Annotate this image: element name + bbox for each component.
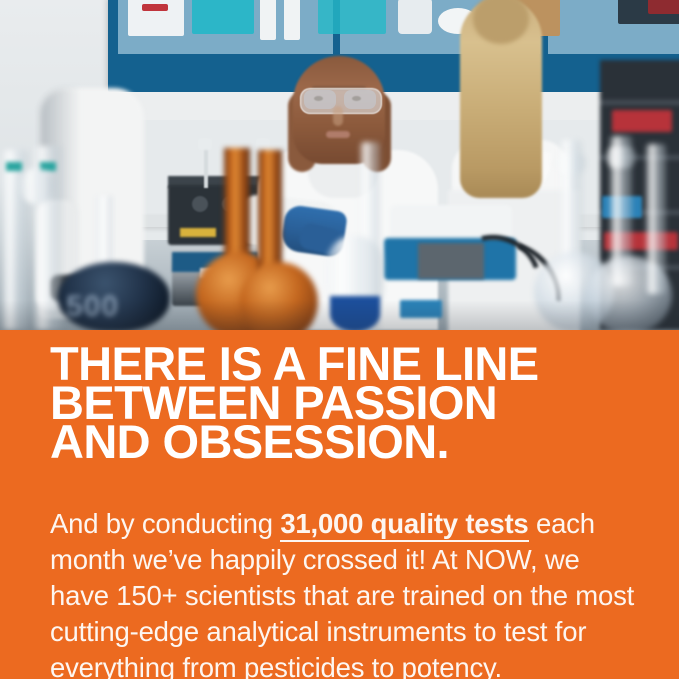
orange-text-panel: THERE IS A FINE LINE BETWEEN PASSION AND…	[0, 330, 679, 679]
support-rod-clamp-2	[256, 138, 270, 150]
shelf-item-red	[612, 110, 672, 132]
instrument-label-yellow	[180, 228, 216, 237]
glass-stopper-right	[556, 152, 586, 174]
shelf-jar-white	[398, 0, 432, 34]
cylinder-marking-teal	[6, 162, 22, 171]
body-text-before: And by conducting	[50, 508, 280, 539]
flask-500-neck	[96, 196, 112, 268]
shelf-bottle-teal	[192, 0, 254, 34]
glass-stem-left	[20, 168, 54, 204]
shelf-box-red-2	[648, 0, 679, 14]
glass-stopper-right-2	[606, 146, 636, 168]
shelf-bottle-white	[260, 0, 276, 40]
scientist-center-nose	[333, 106, 343, 126]
shelf-box-red	[142, 4, 168, 11]
scientist-center-mouth	[326, 131, 350, 138]
support-rod-clamp	[198, 138, 212, 150]
lab-photo: 500	[0, 0, 679, 330]
volumetric-flask-neck-right-3	[646, 144, 666, 294]
body-copy: And by conducting 31,000 quality tests e…	[50, 506, 635, 679]
instrument-knob	[192, 196, 208, 212]
shelf-bottle-white-2	[284, 0, 300, 40]
quality-tests-highlight: 31,000 quality tests	[280, 508, 528, 542]
headline: THERE IS A FINE LINE BETWEEN PASSION AND…	[50, 344, 650, 461]
photo-bottom-fade	[0, 300, 679, 330]
advertisement-card: 500 THERE IS A FINE LINE BETWEEN PASSION…	[0, 0, 679, 679]
upper-cabinet	[108, 0, 679, 92]
shelf-bottle-teal-2	[318, 0, 386, 34]
